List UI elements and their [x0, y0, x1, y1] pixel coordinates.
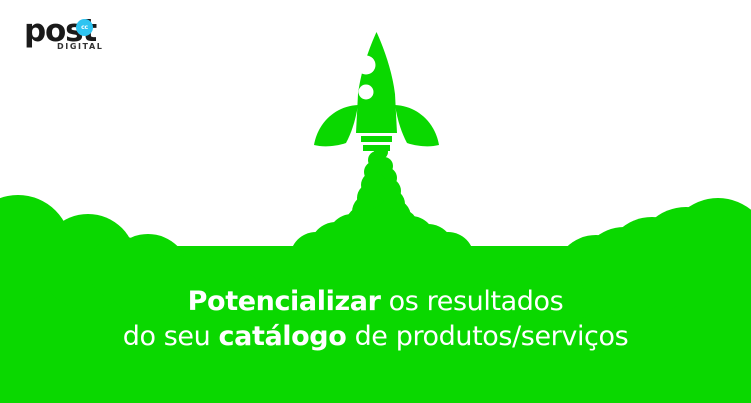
rocket-body: [356, 32, 397, 133]
headline-line-1: Potencializar os resultados: [0, 285, 751, 320]
headline-line-2-bold: catálogo: [219, 321, 347, 352]
promo-banner: post cc DIGITAL Potencializar os resulta…: [0, 0, 751, 403]
rocket-fin-left: [314, 105, 358, 146]
headline-line-2: do seu catálogo de produtos/serviços: [0, 320, 751, 355]
smoke-plume: [290, 145, 474, 308]
headline: Potencializar os resultados do seu catál…: [0, 285, 751, 354]
rocket-window-lower: [359, 85, 374, 100]
headline-line-2-pre: do seu: [123, 321, 219, 352]
rocket: [314, 32, 439, 151]
rocket-band-1: [361, 136, 392, 142]
logo[interactable]: post cc DIGITAL: [24, 16, 144, 60]
rocket-window-upper: [357, 56, 376, 75]
logo-dot-icon: cc: [76, 19, 93, 36]
rocket-band-2: [363, 145, 390, 151]
headline-line-1-bold: Potencializar: [188, 286, 381, 317]
logo-dot-label: cc: [81, 25, 88, 31]
logo-subtitle: DIGITAL: [57, 43, 104, 51]
rocket-fin-right: [395, 105, 439, 146]
headline-line-2-rest: de produtos/serviços: [346, 321, 628, 352]
headline-line-1-rest: os resultados: [381, 286, 564, 317]
